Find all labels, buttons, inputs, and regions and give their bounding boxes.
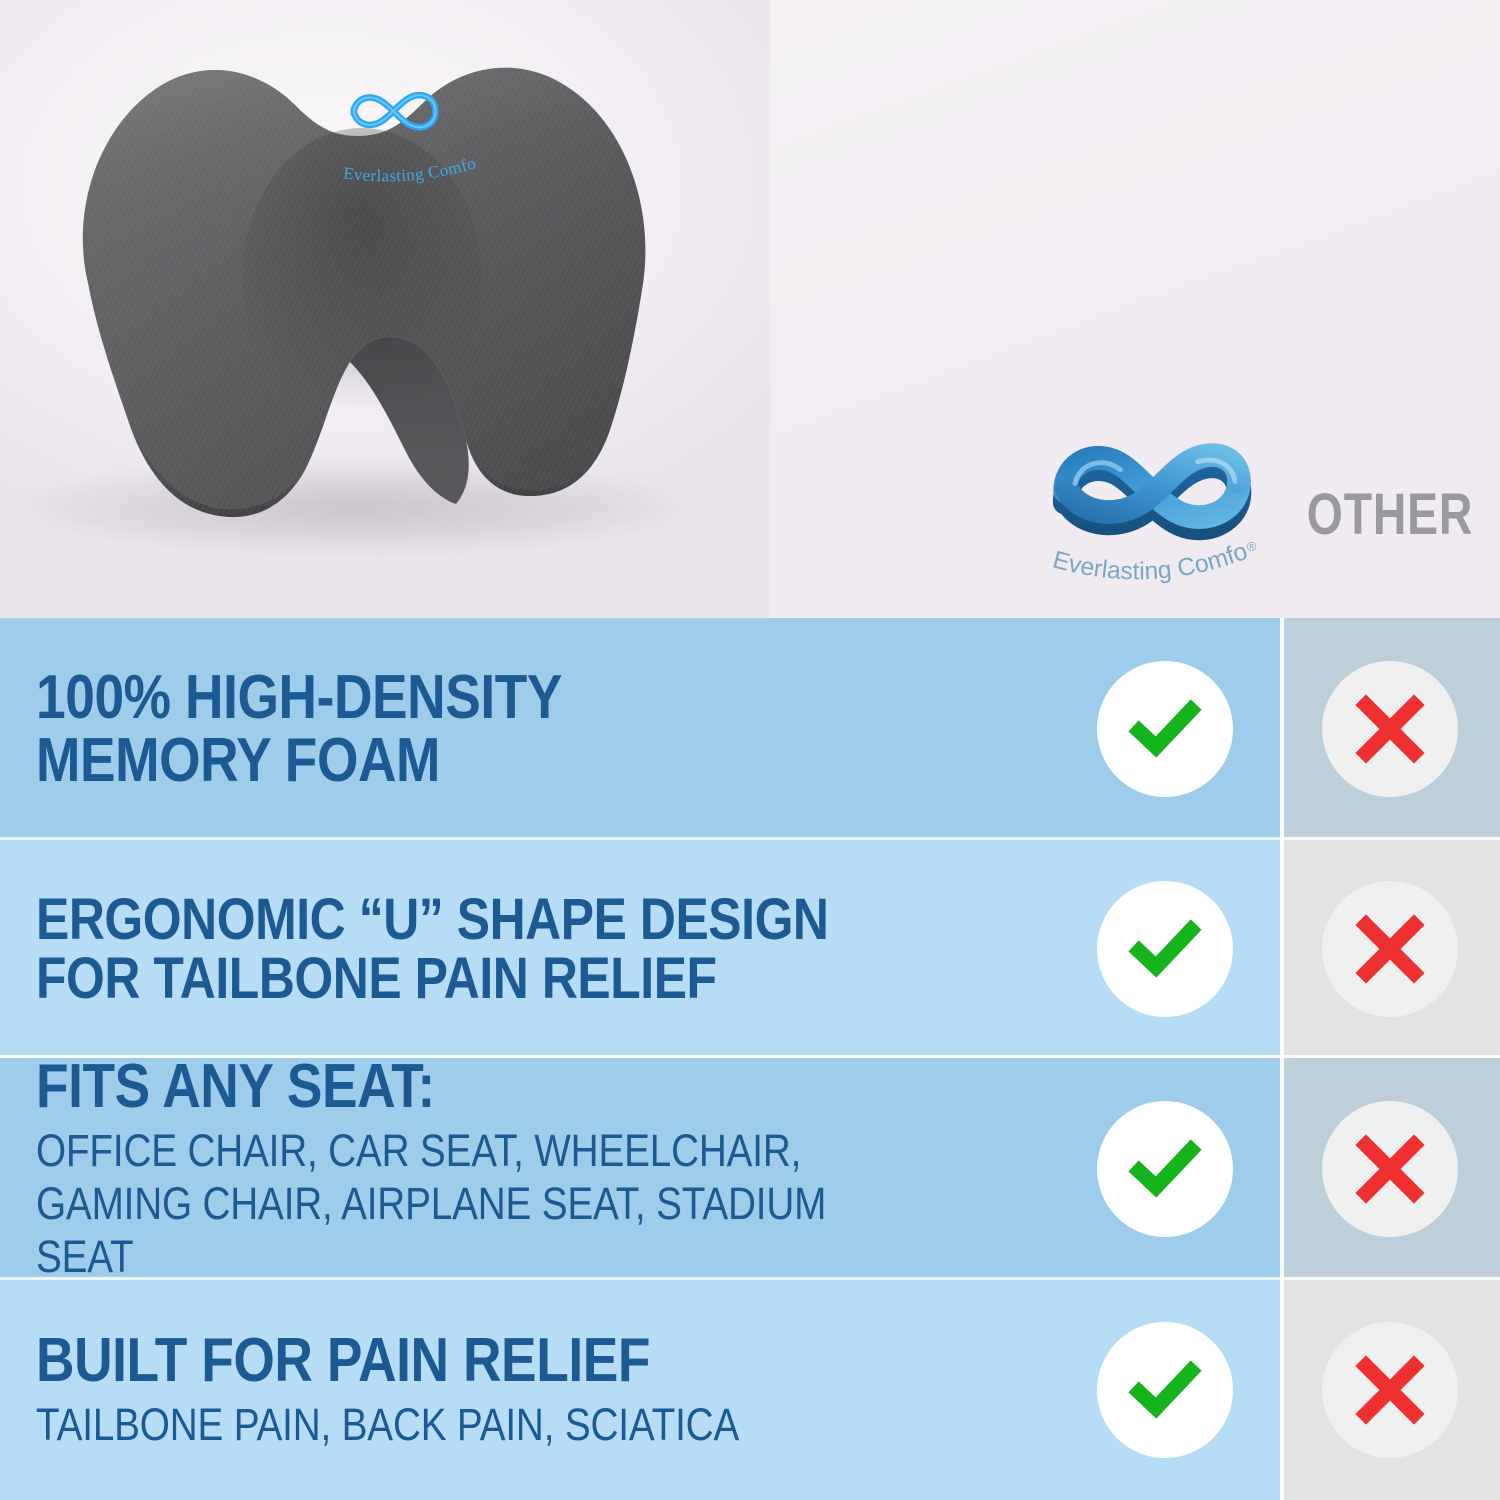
check-icon xyxy=(1125,1350,1205,1430)
check-icon xyxy=(1125,1129,1205,1209)
header-section: Everlasting Comfort xyxy=(0,0,1500,618)
comparison-table: 100% HIGH-DENSITY MEMORY FOAM xyxy=(0,618,1500,1500)
feature-cell: ERGONOMIC “U” SHAPE DESIGN FOR TAILBONE … xyxy=(0,840,1050,1058)
feature-cell: 100% HIGH-DENSITY MEMORY FOAM xyxy=(0,618,1050,840)
feature-title: ERGONOMIC “U” SHAPE DESIGN FOR TAILBONE … xyxy=(36,890,908,1008)
other-mark-cell xyxy=(1280,840,1500,1058)
feature-subtitle: OFFICE CHAIR, CAR SEAT, WHEELCHAIR, GAMI… xyxy=(36,1124,908,1283)
cross-icon xyxy=(1352,1352,1428,1428)
feature-subtitle: TAILBONE PAIN, BACK PAIN, SCIATICA xyxy=(36,1398,908,1451)
product-photo: Everlasting Comfort xyxy=(0,0,770,618)
cross-badge xyxy=(1322,881,1458,1017)
other-mark-cell xyxy=(1280,1280,1500,1500)
check-badge xyxy=(1097,1101,1233,1237)
table-row: FITS ANY SEAT: OFFICE CHAIR, CAR SEAT, W… xyxy=(0,1058,1500,1280)
cross-badge xyxy=(1322,661,1458,797)
table-row: 100% HIGH-DENSITY MEMORY FOAM xyxy=(0,618,1500,840)
other-column-header: OTHER xyxy=(1280,440,1500,590)
column-divider xyxy=(1280,618,1284,1500)
check-icon xyxy=(1125,689,1205,769)
check-badge xyxy=(1097,881,1233,1017)
check-icon xyxy=(1125,909,1205,989)
brand-mark-cell xyxy=(1050,840,1280,1058)
table-row: ERGONOMIC “U” SHAPE DESIGN FOR TAILBONE … xyxy=(0,840,1500,1058)
cross-icon xyxy=(1352,691,1428,767)
infinity-logo-icon xyxy=(1048,440,1272,547)
feature-cell: FITS ANY SEAT: OFFICE CHAIR, CAR SEAT, W… xyxy=(0,1058,1050,1280)
registered-mark: ® xyxy=(1247,539,1257,554)
brand-mark-cell xyxy=(1050,1280,1280,1500)
other-mark-cell xyxy=(1280,1058,1500,1280)
brand-wordmark-text: Everlasting Comfort xyxy=(1042,539,1251,585)
feature-cell: BUILT FOR PAIN RELIEF TAILBONE PAIN, BAC… xyxy=(0,1280,1050,1500)
feature-title: FITS ANY SEAT: xyxy=(36,1055,908,1118)
other-mark-cell xyxy=(1280,618,1500,840)
brand-mark-cell xyxy=(1050,1058,1280,1280)
cross-icon xyxy=(1352,1131,1428,1207)
brand-mark-cell xyxy=(1050,618,1280,840)
feature-title: BUILT FOR PAIN RELIEF xyxy=(36,1329,908,1392)
cross-icon xyxy=(1352,911,1428,987)
brand-column-header: Everlasting Comfort ® xyxy=(1040,440,1280,590)
check-badge xyxy=(1097,661,1233,797)
check-badge xyxy=(1097,1322,1233,1458)
svg-text:Everlasting Comfort: Everlasting Comfort xyxy=(1042,539,1251,585)
other-column-label: OTHER xyxy=(1307,486,1473,544)
cross-badge xyxy=(1322,1101,1458,1237)
feature-title: 100% HIGH-DENSITY MEMORY FOAM xyxy=(36,666,908,792)
cross-badge xyxy=(1322,1322,1458,1458)
product-comparison-infographic: Everlasting Comfort xyxy=(0,0,1500,1500)
seat-cushion-image: Everlasting Comfort xyxy=(10,28,740,588)
table-row: BUILT FOR PAIN RELIEF TAILBONE PAIN, BAC… xyxy=(0,1280,1500,1500)
brand-wordmark: Everlasting Comfort ® xyxy=(1042,539,1278,590)
